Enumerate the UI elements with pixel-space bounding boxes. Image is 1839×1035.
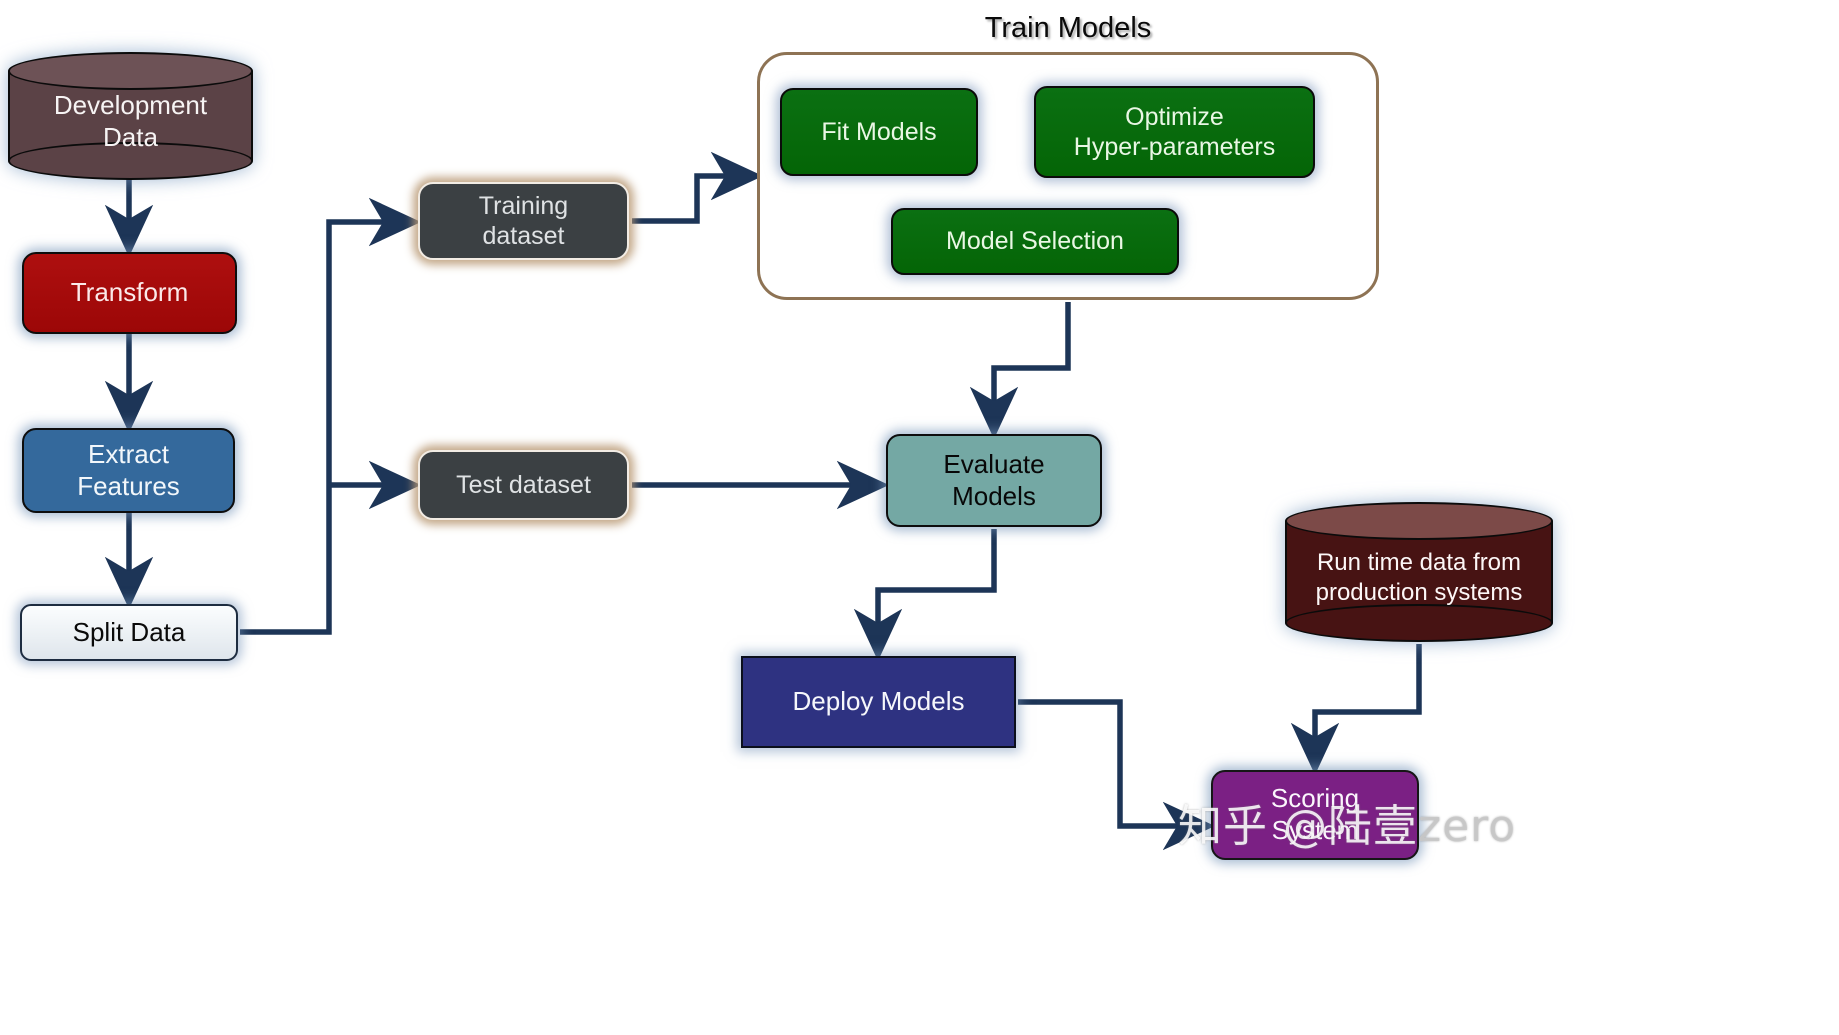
node-label-split-data: Split Data	[73, 617, 186, 649]
node-split-data[interactable]: Split Data	[20, 604, 238, 661]
watermark: 知乎 @陆壹zero	[1178, 790, 1516, 854]
node-label-transform: Transform	[71, 277, 189, 309]
node-label-evaluate-models: Evaluate Models	[943, 449, 1044, 512]
node-label-runtime-data: Run time data from production systems	[1285, 502, 1553, 642]
node-label-development-data: Development Data	[8, 52, 253, 180]
node-deploy-models[interactable]: Deploy Models	[741, 656, 1016, 748]
node-transform[interactable]: Transform	[22, 252, 237, 334]
node-model-selection[interactable]: Model Selection	[891, 208, 1179, 275]
node-label-deploy-models: Deploy Models	[793, 686, 965, 718]
node-fit-models[interactable]: Fit Models	[780, 88, 978, 176]
node-training-dataset[interactable]: Training dataset	[418, 182, 629, 260]
node-runtime-data[interactable]: Run time data from production systems	[1285, 502, 1553, 642]
watermark-prefix: 知乎 @陆壹	[1178, 801, 1418, 852]
node-label-test-dataset: Test dataset	[456, 470, 591, 501]
node-label-optimize-hyperparameters: Optimize Hyper-parameters	[1074, 102, 1275, 163]
node-evaluate-models[interactable]: Evaluate Models	[886, 434, 1102, 527]
node-test-dataset[interactable]: Test dataset	[418, 450, 629, 520]
node-extract-features[interactable]: Extract Features	[22, 428, 235, 513]
group-label-train-models: Train Models	[757, 12, 1379, 45]
node-label-model-selection: Model Selection	[946, 226, 1124, 257]
diagram-canvas: Development Data Transform Extract Featu…	[0, 0, 1839, 1035]
node-label-training-dataset: Training dataset	[479, 191, 568, 252]
node-development-data[interactable]: Development Data	[8, 52, 253, 180]
node-label-fit-models: Fit Models	[821, 117, 936, 148]
node-optimize-hyperparameters[interactable]: Optimize Hyper-parameters	[1034, 86, 1315, 178]
node-label-extract-features: Extract Features	[77, 439, 180, 502]
watermark-suffix: zero	[1418, 801, 1516, 852]
